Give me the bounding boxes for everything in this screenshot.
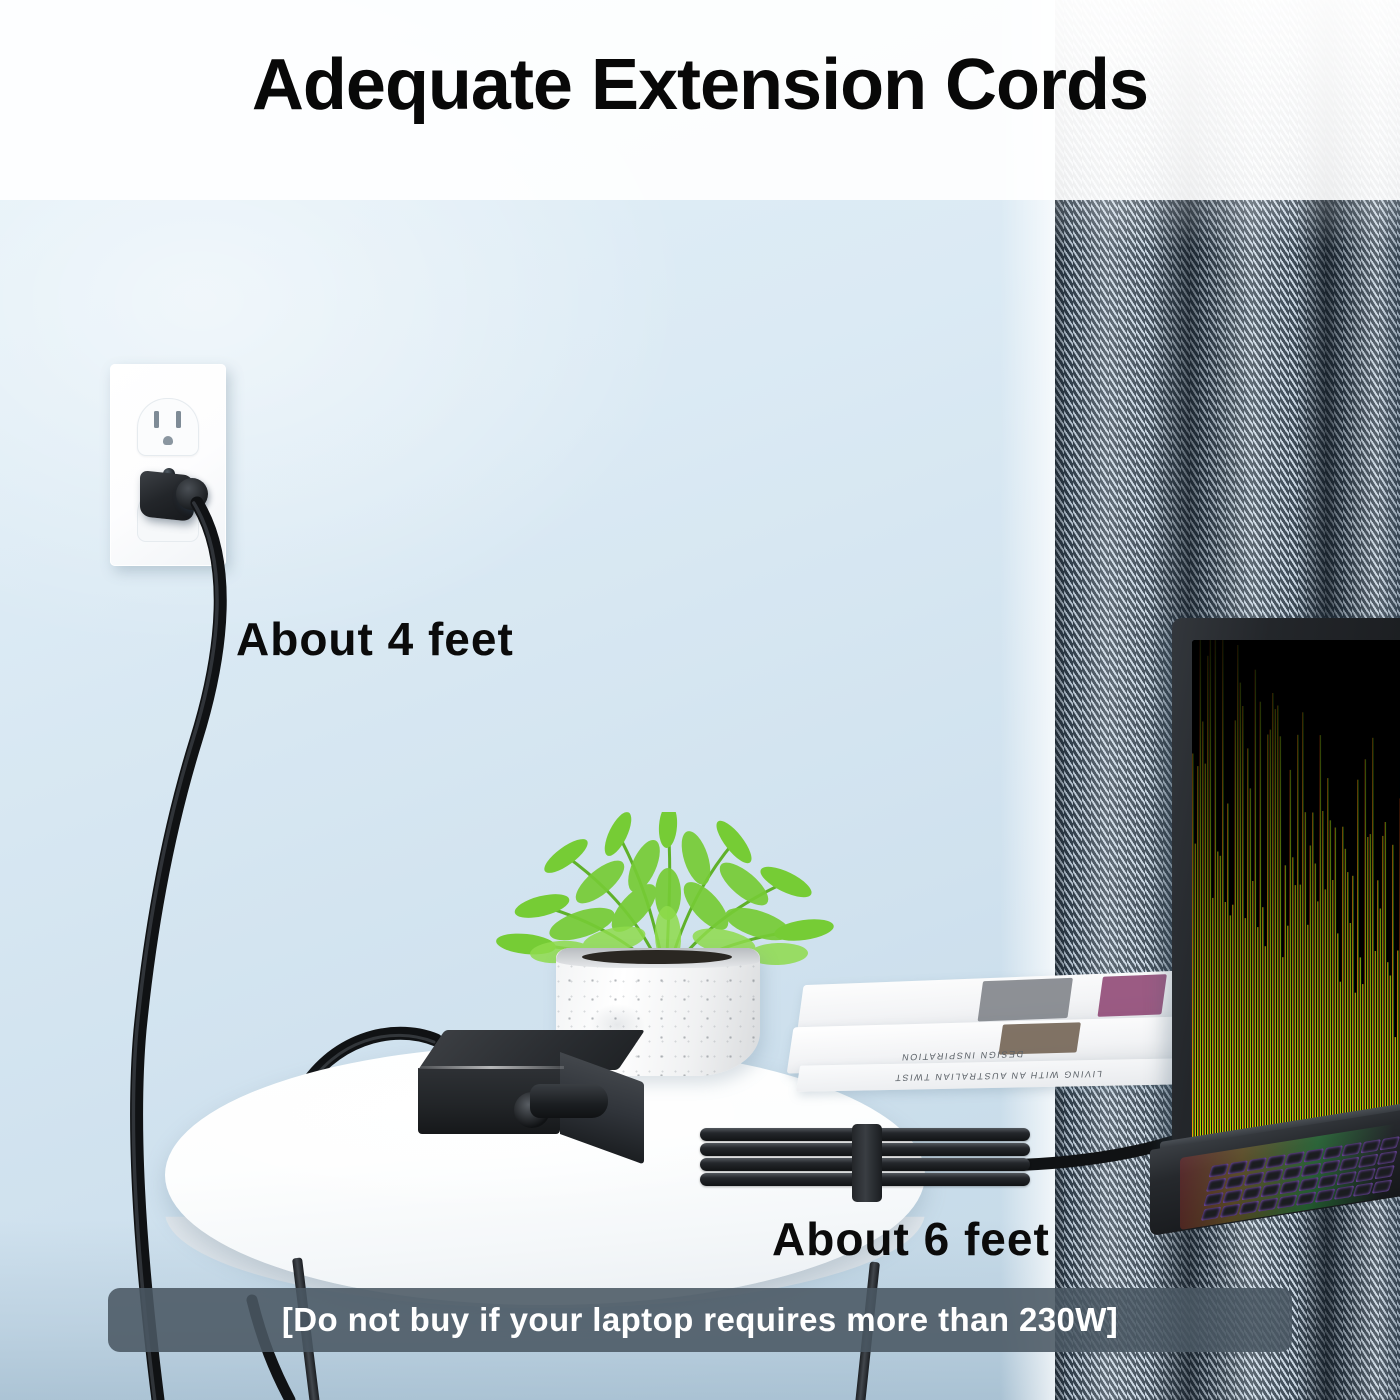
outlet-socket-upper (137, 398, 199, 456)
keyboard-key (1341, 1142, 1362, 1156)
page-title: Adequate Extension Cords (0, 44, 1400, 126)
magazine-spine-text-1: DESIGN INSPIRATION (900, 1049, 1024, 1062)
keyboard-key (1303, 1148, 1324, 1162)
keyboard-key (1206, 1178, 1227, 1192)
keyboard-key (1258, 1197, 1279, 1211)
dc-connector-plug (530, 1084, 608, 1118)
keyboard-key (1360, 1139, 1381, 1153)
keyboard-key (1241, 1186, 1262, 1200)
keyboard-key (1277, 1194, 1298, 1208)
keyboard-key (1315, 1188, 1336, 1202)
keyboard-key (1358, 1154, 1379, 1168)
keyboard-key (1260, 1183, 1281, 1197)
warning-banner: [Do not buy if your laptop requires more… (108, 1288, 1292, 1352)
keyboard-key (1322, 1145, 1343, 1159)
outlet-ground-hole (163, 436, 173, 445)
keyboard-key (1227, 1160, 1248, 1174)
keyboard-key (1336, 1171, 1357, 1185)
brick-top-face (418, 1030, 645, 1070)
outlet-slot-right (176, 411, 181, 428)
keyboard-key (1225, 1175, 1246, 1189)
keyboard-key (1284, 1151, 1305, 1165)
coiled-dc-cable (700, 1128, 1030, 1200)
keyboard-key (1379, 1136, 1400, 1150)
keyboard-key (1355, 1168, 1376, 1182)
keyboard-key (1265, 1154, 1286, 1168)
keyboard-key (1334, 1185, 1355, 1199)
wall-outlet-plate (110, 364, 226, 566)
warning-banner-text: [Do not buy if your laptop requires more… (282, 1301, 1118, 1339)
keyboard-key (1201, 1207, 1222, 1221)
keyboard-key (1320, 1160, 1341, 1174)
keyboard-key (1203, 1192, 1224, 1206)
keyboard-key (1377, 1151, 1398, 1165)
keyboard-key (1279, 1180, 1300, 1194)
keyboard-key (1298, 1177, 1319, 1191)
keyboard-key (1282, 1166, 1303, 1180)
keyboard-key (1353, 1182, 1374, 1196)
magazine-spine-text-2: LIVING WITH AN AUSTRALIAN TWIST (893, 1069, 1103, 1083)
label-device-cord-length: About 6 feet (772, 1212, 1050, 1266)
label-wall-cord-length: About 4 feet (236, 612, 514, 666)
keyboard-key (1222, 1189, 1243, 1203)
keyboard-key (1374, 1165, 1395, 1179)
laptop-screen (1192, 640, 1400, 1140)
keyboard-key (1220, 1204, 1241, 1218)
keyboard-key (1263, 1169, 1284, 1183)
equalizer-wallpaper (1192, 640, 1400, 1140)
keyboard-key (1372, 1179, 1393, 1193)
keyboard-key (1301, 1163, 1322, 1177)
keyboard-key (1339, 1157, 1360, 1171)
plug-strain-relief (176, 478, 208, 510)
keyboard-key (1239, 1201, 1260, 1215)
outlet-slot-left (154, 411, 159, 428)
magazine-color-swatch (1097, 974, 1166, 1017)
keyboard-key (1317, 1174, 1338, 1188)
keyboard-key (1244, 1172, 1265, 1186)
header-band: Adequate Extension Cords (0, 0, 1400, 200)
keyboard-key (1208, 1163, 1229, 1177)
pot-soil (582, 950, 732, 964)
magazine-photo-swatch (978, 978, 1073, 1022)
keyboard-key (1246, 1157, 1267, 1171)
velcro-cable-tie (852, 1124, 882, 1202)
brick-edge-highlight (418, 1066, 564, 1069)
product-marketing-image: DESIGN INSPIRATION LIVING WITH AN AUSTRA… (0, 0, 1400, 1400)
keyboard-key (1296, 1191, 1317, 1205)
